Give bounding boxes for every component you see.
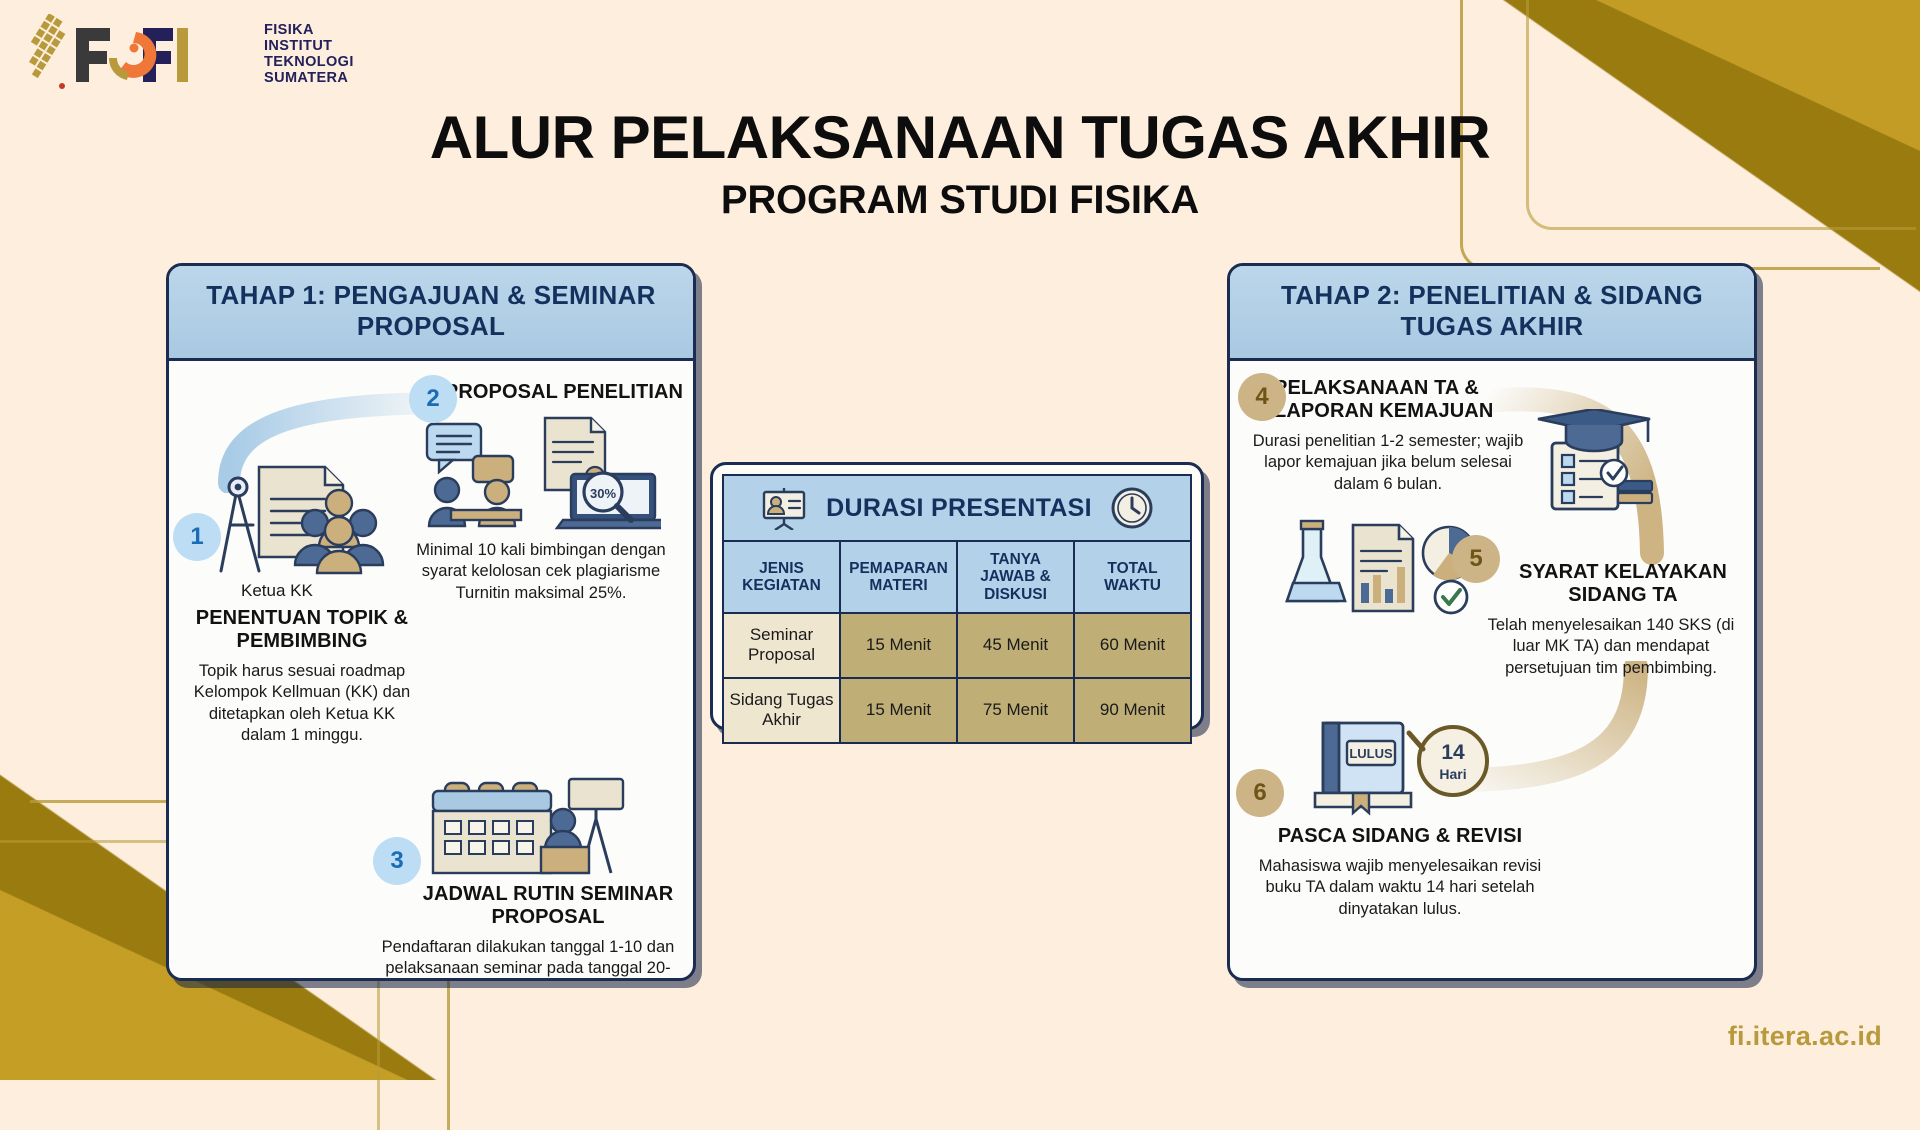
footer-url: fi.itera.ac.id xyxy=(1728,1021,1882,1052)
card-tahap-2: TAHAP 2: PENELITIAN & SIDANG TUGAS AKHIR… xyxy=(1227,263,1757,981)
step-2: 2 PROPOSAL PENELITIAN xyxy=(397,375,685,603)
table-header-row: JENIS KEGIATAN PEMAPARAN MATERI TANYA JA… xyxy=(723,541,1191,613)
step-5: 5 SYARAT KELAYAKAN SIDANG TA Telah menye… xyxy=(1468,543,1754,678)
step-6-label-bottom: Hari xyxy=(1439,766,1466,782)
compass-document-team-icon xyxy=(207,461,397,579)
brand-logo: FISIKA INSTITUT TEKNOLOGI SUMATERA xyxy=(14,14,354,94)
page-title-block: ALUR PELAKSANAAN TUGAS AKHIR PROGRAM STU… xyxy=(0,108,1920,223)
consultation-turnitin-icon: 30% xyxy=(421,414,661,532)
card-tahap-1-header: TAHAP 1: PENGAJUAN & SEMINAR PROPOSAL xyxy=(169,266,693,361)
brand-name: FISIKA INSTITUT TEKNOLOGI SUMATERA xyxy=(264,22,354,87)
clock-icon xyxy=(1108,484,1156,532)
row-1-pemaparan: 15 Menit xyxy=(840,678,957,743)
card-tahap-2-body: 4 PELAKSANAAN TA & LAPORAN KEMAJUAN Dura… xyxy=(1230,361,1754,981)
page-subtitle: PROGRAM STUDI FISIKA xyxy=(0,178,1920,223)
brand-line-4: SUMATERA xyxy=(264,70,354,86)
durasi-presentasi-card: DURASI PRESENTASI JENIS KEGIATAN PEMAPAR… xyxy=(710,462,1204,730)
step-4-title: PELAKSANAAN TA & LAPORAN KEMAJUAN xyxy=(1274,377,1538,423)
row-0-pemaparan: 15 Menit xyxy=(840,613,957,678)
brand-line-1: FISIKA xyxy=(264,22,354,38)
brand-line-3: TEKNOLOGI xyxy=(264,54,354,70)
row-0-kegiatan: Seminar Proposal xyxy=(723,613,840,678)
step-6-number: 6 xyxy=(1236,769,1284,817)
step-6-label-top: 14 xyxy=(1441,741,1465,764)
step-1: Ketua KK 1 PENENTUAN TOPIK & PEMBIMBING … xyxy=(177,461,427,745)
step-5-desc: Telah menyelesaikan 140 SKS (di luar MK … xyxy=(1468,615,1754,678)
calendar-podium-icon xyxy=(423,769,633,879)
step-3: 3 JADWAL RUTIN SEMINAR PROPOSAL Pendafta… xyxy=(375,769,681,981)
table-title: DURASI PRESENTASI xyxy=(826,494,1092,523)
presentation-board-icon xyxy=(758,486,810,530)
row-0-tanya-jawab: 45 Menit xyxy=(957,613,1074,678)
row-1-tanya-jawab: 75 Menit xyxy=(957,678,1074,743)
step-2-title: PROPOSAL PENELITIAN xyxy=(443,381,685,404)
graduation-checklist-icon xyxy=(1530,409,1660,529)
page-title: ALUR PELAKSANAAN TUGAS AKHIR xyxy=(0,108,1920,168)
step-6-desc: Mahasiswa wajib menyelesaikan revisi buk… xyxy=(1240,856,1560,919)
row-0-total: 60 Menit xyxy=(1074,613,1191,678)
card-tahap-2-header: TAHAP 2: PENELITIAN & SIDANG TUGAS AKHIR xyxy=(1230,266,1754,361)
step-2-icon-label: 30% xyxy=(590,486,616,501)
step-2-desc: Minimal 10 kali bimbingan dengan syarat … xyxy=(397,540,685,603)
table-row: Sidang Tugas Akhir 15 Menit 75 Menit 90 … xyxy=(723,678,1191,743)
table-col-total-waktu: TOTAL WAKTU xyxy=(1074,541,1191,613)
step-6-book-label: LULUS xyxy=(1349,746,1393,761)
card-tahap-1: TAHAP 1: PENGAJUAN & SEMINAR PROPOSAL xyxy=(166,263,696,981)
step-4-desc: Durasi penelitian 1-2 semester; wajib la… xyxy=(1238,431,1538,494)
table-row: Seminar Proposal 15 Menit 45 Menit 60 Me… xyxy=(723,613,1191,678)
table-title-row: DURASI PRESENTASI xyxy=(723,475,1191,541)
table-col-pemaparan: PEMAPARAN MATERI xyxy=(840,541,957,613)
step-6: LULUS 14 Hari 6 PASCA SIDANG & REVISI Ma… xyxy=(1240,713,1560,919)
step-5-title: SYARAT KELAYAKAN SIDANG TA xyxy=(1492,561,1754,607)
row-1-kegiatan: Sidang Tugas Akhir xyxy=(723,678,840,743)
table-title-cell: DURASI PRESENTASI xyxy=(723,475,1191,541)
table-col-jenis-kegiatan: JENIS KEGIATAN xyxy=(723,541,840,613)
step-3-number: 3 xyxy=(373,837,421,885)
step-3-desc: Pendaftaran dilakukan tanggal 1-10 dan p… xyxy=(375,937,681,981)
step-1-desc: Topik harus sesuai roadmap Kelompok Kell… xyxy=(177,661,427,745)
step-3-title: JADWAL RUTIN SEMINAR PROPOSAL xyxy=(415,883,681,929)
card-tahap-1-body: Ketua KK 1 PENENTUAN TOPIK & PEMBIMBING … xyxy=(169,361,693,981)
fsfi-itera-logo-icon xyxy=(14,14,254,94)
table-col-tanya-jawab: TANYA JAWAB & DISKUSI xyxy=(957,541,1074,613)
step-6-title: PASCA SIDANG & REVISI xyxy=(1240,825,1560,848)
lulus-stamp-book-icon: LULUS 14 Hari xyxy=(1295,713,1505,823)
row-1-total: 90 Menit xyxy=(1074,678,1191,743)
step-1-title: PENENTUAN TOPIK & PEMBIMBING xyxy=(177,607,427,653)
durasi-presentasi-table: DURASI PRESENTASI JENIS KEGIATAN PEMAPAR… xyxy=(722,474,1192,744)
brand-line-2: INSTITUT xyxy=(264,38,354,54)
